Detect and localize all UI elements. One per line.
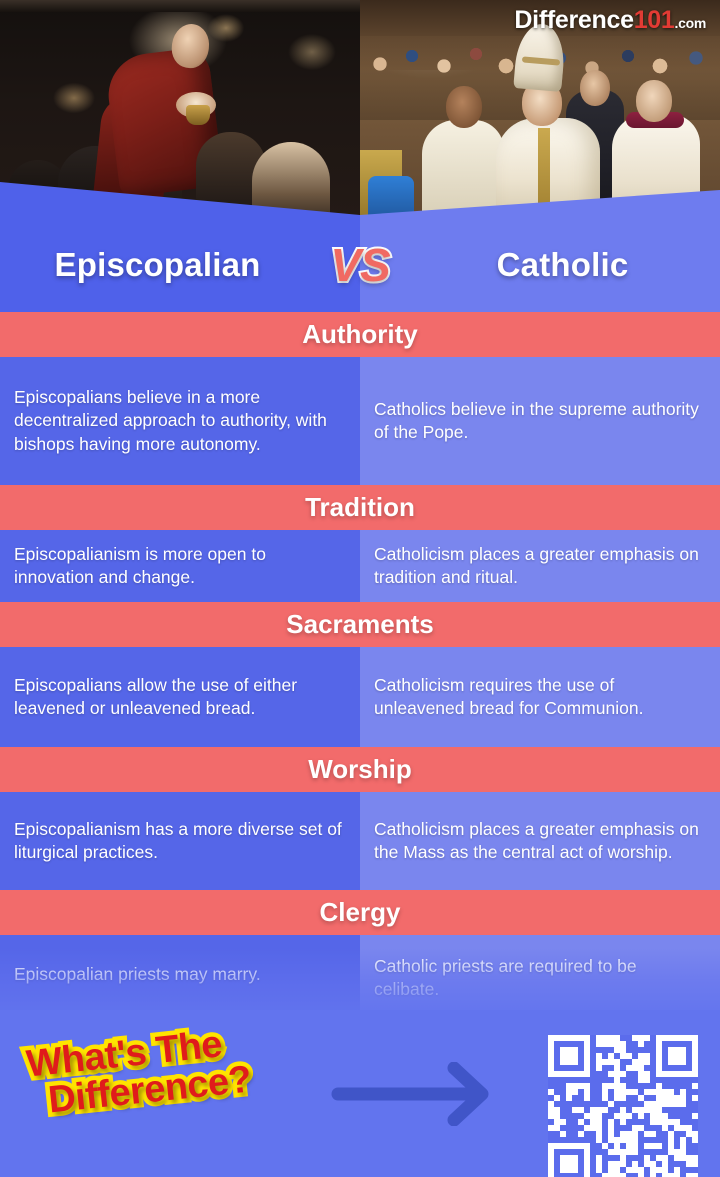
arrow-right-icon <box>330 1062 510 1126</box>
section-heading-worship: Worship <box>0 747 720 792</box>
section-heading-clergy: Clergy <box>0 890 720 935</box>
section-heading-authority: Authority <box>0 312 720 357</box>
comparison-table: Authority Episcopalians believe in a mor… <box>0 312 720 1025</box>
logo-main-text: Difference <box>514 6 633 34</box>
section-tradition: Tradition Episcopalianism is more open t… <box>0 485 720 602</box>
section-heading-tradition: Tradition <box>0 485 720 530</box>
comparison-titles: Episcopalian VS Catholic <box>0 225 720 305</box>
cell-right-worship: Catholicism places a greater emphasis on… <box>360 792 720 890</box>
site-logo: Difference101.com <box>514 6 706 35</box>
section-body-tradition: Episcopalianism is more open to innovati… <box>0 530 720 602</box>
section-body-sacraments: Episcopalians allow the use of either le… <box>0 647 720 747</box>
vs-label: VS <box>330 238 389 292</box>
title-right: Catholic <box>405 246 720 284</box>
footer-cta-bar: What's The Difference? <box>0 1010 720 1177</box>
qr-code[interactable] <box>548 1035 698 1177</box>
cell-left-authority: Episcopalians believe in a more decentra… <box>0 357 360 485</box>
title-left: Episcopalian <box>0 246 315 284</box>
section-authority: Authority Episcopalians believe in a mor… <box>0 312 720 485</box>
vs-badge: VS <box>315 238 405 292</box>
infographic-page: Difference101.com Episcopalian VS Cathol… <box>0 0 720 1177</box>
cell-left-worship: Episcopalianism has a more diverse set o… <box>0 792 360 890</box>
section-body-authority: Episcopalians believe in a more decentra… <box>0 357 720 485</box>
cell-left-tradition: Episcopalianism is more open to innovati… <box>0 530 360 602</box>
section-body-worship: Episcopalianism has a more diverse set o… <box>0 792 720 890</box>
logo-number-text: 101 <box>634 6 675 34</box>
section-worship: Worship Episcopalianism has a more diver… <box>0 747 720 890</box>
logo-tld-text: .com <box>675 15 706 31</box>
cell-right-sacraments: Catholicism requires the use of unleaven… <box>360 647 720 747</box>
section-clergy: Clergy Episcopalian priests may marry. C… <box>0 890 720 1025</box>
cell-right-authority: Catholics believe in the supreme authori… <box>360 357 720 485</box>
section-heading-sacraments: Sacraments <box>0 602 720 647</box>
cta-whats-the-difference: What's The Difference? <box>25 1023 253 1122</box>
section-sacraments: Sacraments Episcopalians allow the use o… <box>0 602 720 747</box>
cell-left-sacraments: Episcopalians allow the use of either le… <box>0 647 360 747</box>
cell-right-tradition: Catholicism places a greater emphasis on… <box>360 530 720 602</box>
